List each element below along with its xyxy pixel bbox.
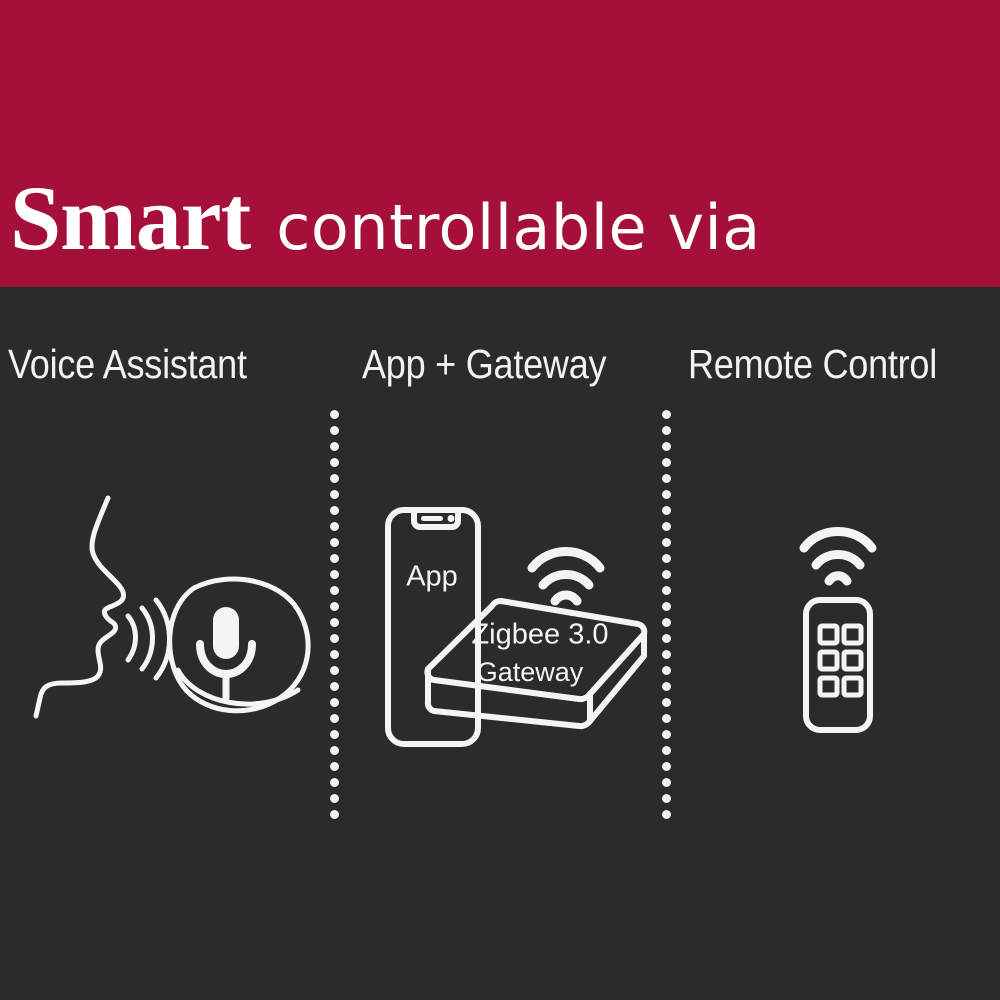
divider-dot: [662, 794, 671, 803]
divider-dot: [330, 570, 339, 579]
divider-dot: [330, 506, 339, 515]
header-banner: Smartcontrollable via: [0, 0, 1000, 287]
divider-dot: [330, 682, 339, 691]
divider-dot: [330, 538, 339, 547]
remote-button: [820, 626, 837, 643]
gateway-label-line1: Zigbee 3.0: [471, 619, 608, 651]
gateway-box-icon: Zigbee 3.0 Gateway: [427, 601, 644, 726]
column-divider-left: [330, 410, 339, 825]
wifi-waves-icon: [532, 552, 600, 602]
column-heading-app-gateway: App + Gateway: [362, 341, 606, 388]
divider-dot: [662, 490, 671, 499]
banner-title: Smartcontrollable via: [10, 172, 761, 264]
phone-screen-label: App: [406, 561, 458, 593]
divider-dot: [330, 474, 339, 483]
wifi-waves-icon: [804, 532, 872, 582]
voice-assistant-illustration: [18, 492, 318, 722]
divider-dot: [330, 522, 339, 531]
divider-dot: [330, 778, 339, 787]
divider-dot: [330, 554, 339, 563]
divider-dot: [330, 650, 339, 659]
divider-dot: [662, 410, 671, 419]
gateway-label-line2: Gateway: [477, 657, 584, 687]
divider-dot: [330, 634, 339, 643]
divider-dot: [662, 442, 671, 451]
divider-dot: [662, 474, 671, 483]
remote-button: [820, 678, 837, 695]
divider-dot: [330, 714, 339, 723]
divider-dot: [662, 458, 671, 467]
remote-button: [820, 652, 837, 669]
remote-button: [844, 678, 861, 695]
divider-dot: [330, 666, 339, 675]
app-gateway-illustration: App Zigbee 3.0 Gateway: [366, 506, 666, 756]
remote-control-illustration: [782, 518, 902, 738]
divider-dot: [330, 794, 339, 803]
divider-dot: [662, 762, 671, 771]
divider-dot: [330, 490, 339, 499]
divider-dot: [330, 442, 339, 451]
divider-dot: [662, 778, 671, 787]
column-heading-voice-assistant: Voice Assistant: [8, 341, 247, 388]
microphone-icon: [200, 607, 252, 698]
remote-button: [844, 652, 861, 669]
smart-control-infographic: Smartcontrollable via Voice Assistant Ap…: [0, 0, 1000, 1000]
divider-dot: [330, 698, 339, 707]
divider-dot: [330, 426, 339, 435]
divider-dot: [330, 746, 339, 755]
remote-button: [844, 626, 861, 643]
divider-dot: [330, 410, 339, 419]
divider-dot: [330, 730, 339, 739]
banner-title-bold: Smart: [10, 167, 250, 269]
remote-control-icon: [806, 600, 870, 730]
divider-dot: [662, 426, 671, 435]
column-heading-remote-control: Remote Control: [688, 341, 937, 388]
divider-dot: [330, 618, 339, 627]
divider-dot: [330, 762, 339, 771]
divider-dot: [662, 810, 671, 819]
divider-dot: [330, 810, 339, 819]
divider-dot: [330, 586, 339, 595]
divider-dot: [330, 458, 339, 467]
banner-title-light: controllable via: [276, 191, 760, 264]
divider-dot: [330, 602, 339, 611]
